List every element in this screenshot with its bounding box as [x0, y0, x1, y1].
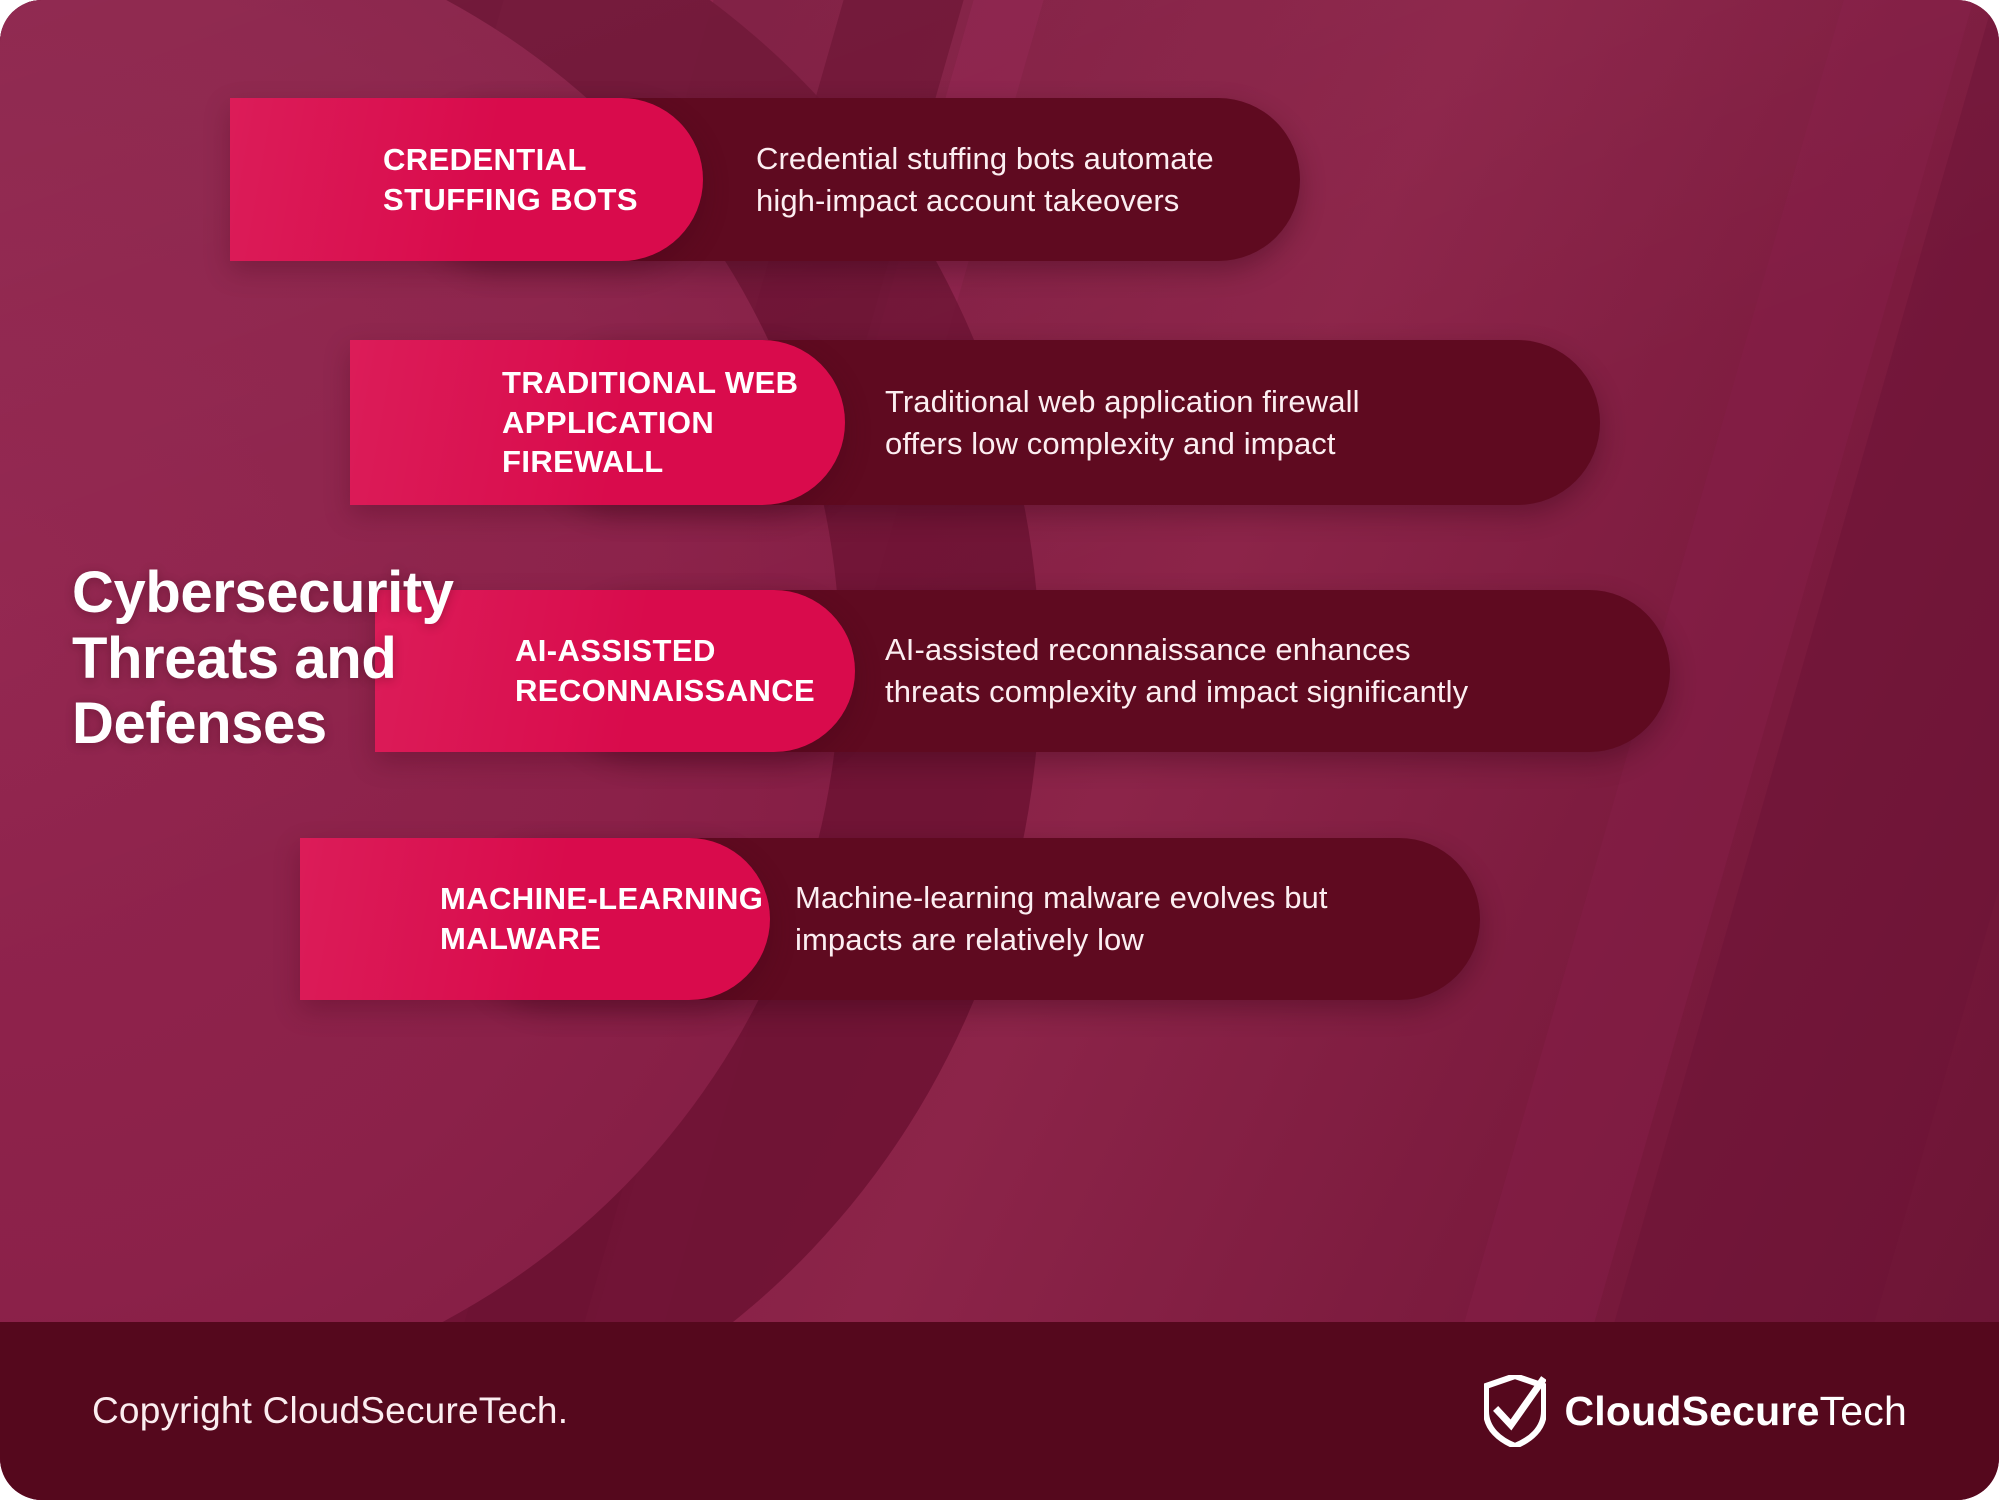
- brand-middle: Secure: [1682, 1388, 1820, 1434]
- threat-label-pill[interactable]: CREDENTIAL STUFFING BOTS: [230, 98, 703, 261]
- brand-prefix: Cloud: [1564, 1388, 1681, 1434]
- threat-label-pill[interactable]: TRADITIONAL WEB APPLICATION FIREWALL: [350, 340, 845, 505]
- copyright-text: Copyright CloudSecureTech.: [92, 1390, 568, 1432]
- threat-label-text: MACHINE-LEARNING MALWARE: [300, 879, 763, 958]
- threat-label-text: CREDENTIAL STUFFING BOTS: [230, 140, 638, 219]
- threat-row[interactable]: Machine-learning malware evolves but imp…: [0, 838, 1999, 1000]
- threat-row[interactable]: Traditional web application firewall off…: [0, 340, 1999, 505]
- footer-bar: Copyright CloudSecureTech. CloudSecureTe…: [0, 1322, 1999, 1500]
- threat-label-text: TRADITIONAL WEB APPLICATION FIREWALL: [350, 363, 798, 482]
- threat-row[interactable]: Credential stuffing bots automate high-i…: [0, 98, 1999, 261]
- brand-logo: CloudSecureTech: [1484, 1375, 1907, 1447]
- brand-suffix: Tech: [1820, 1388, 1907, 1434]
- threat-label-text: AI-ASSISTED RECONNAISSANCE: [375, 631, 815, 710]
- threat-label-pill[interactable]: MACHINE-LEARNING MALWARE: [300, 838, 770, 1000]
- brand-wordmark: CloudSecureTech: [1564, 1388, 1907, 1435]
- shield-check-icon: [1484, 1375, 1546, 1447]
- infographic-canvas: Credential stuffing bots automate high-i…: [0, 0, 1999, 1500]
